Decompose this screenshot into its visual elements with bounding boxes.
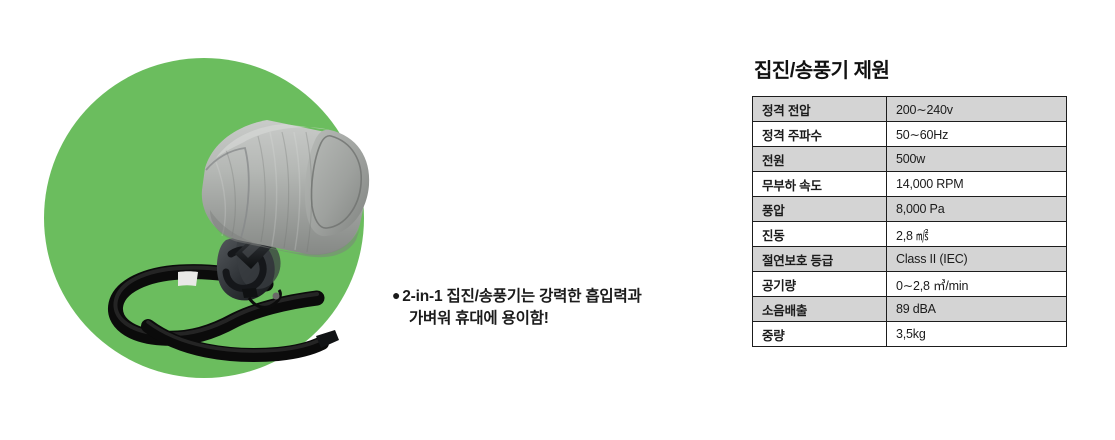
spec-value-cell: 2,8 ㎨ [887,222,1067,247]
specifications-table: 정격 전압200∼240v정격 주파수50∼60Hz전원500w무부하 속도14… [752,96,1067,347]
bullet-icon: ● [392,287,400,303]
specifications-table-body: 정격 전압200∼240v정격 주파수50∼60Hz전원500w무부하 속도14… [753,97,1067,347]
spec-label-cell: 정격 전압 [753,97,887,122]
collection-bag [202,120,369,257]
spec-row: 중량3,5kg [753,322,1067,347]
spec-value-cell: 89 dBA [887,297,1067,322]
spec-row: 소음배출89 dBA [753,297,1067,322]
caption-line-1-text: 2-in-1 집진/송풍기는 강력한 흡입력과 [402,288,641,305]
spec-row: 진동2,8 ㎨ [753,222,1067,247]
spec-label-cell: 무부하 속도 [753,172,887,197]
spec-label-cell: 풍압 [753,197,887,222]
product-figure [44,58,364,378]
spec-value-cell: 500w [887,147,1067,172]
spec-row: 절연보호 등급Class II (IEC) [753,247,1067,272]
spec-label-cell: 정격 주파수 [753,122,887,147]
spec-row: 무부하 속도14,000 RPM [753,172,1067,197]
spec-value-cell: Class II (IEC) [887,247,1067,272]
spec-panel: 집진/송풍기 제원 정격 전압200∼240v정격 주파수50∼60Hz전원50… [752,60,1048,347]
spec-row: 정격 주파수50∼60Hz [753,122,1067,147]
spec-row: 풍압8,000 Pa [753,197,1067,222]
spec-label-cell: 공기량 [753,272,887,297]
spec-value-cell: 3,5kg [887,322,1067,347]
caption-line-2: 가벼워 휴대에 용이함! [392,308,722,330]
spec-row: 정격 전압200∼240v [753,97,1067,122]
spec-row: 공기량0∼2,8 ㎥/min [753,272,1067,297]
spec-row: 전원500w [753,147,1067,172]
spec-value-cell: 14,000 RPM [887,172,1067,197]
spec-value-cell: 50∼60Hz [887,122,1067,147]
spec-value-cell: 8,000 Pa [887,197,1067,222]
spec-panel-title: 집진/송풍기 제원 [754,60,1048,82]
dust-collector-blower-photo [30,58,378,388]
spec-value-cell: 200∼240v [887,97,1067,122]
spec-label-cell: 소음배출 [753,297,887,322]
spec-label-cell: 중량 [753,322,887,347]
spec-label-cell: 전원 [753,147,887,172]
spec-label-cell: 절연보호 등급 [753,247,887,272]
product-caption: ●2-in-1 집진/송풍기는 강력한 흡입력과 가벼워 휴대에 용이함! [392,286,722,330]
spec-label-cell: 진동 [753,222,887,247]
caption-line-1: ●2-in-1 집진/송풍기는 강력한 흡입력과 [392,286,722,308]
spec-value-cell: 0∼2,8 ㎥/min [887,272,1067,297]
